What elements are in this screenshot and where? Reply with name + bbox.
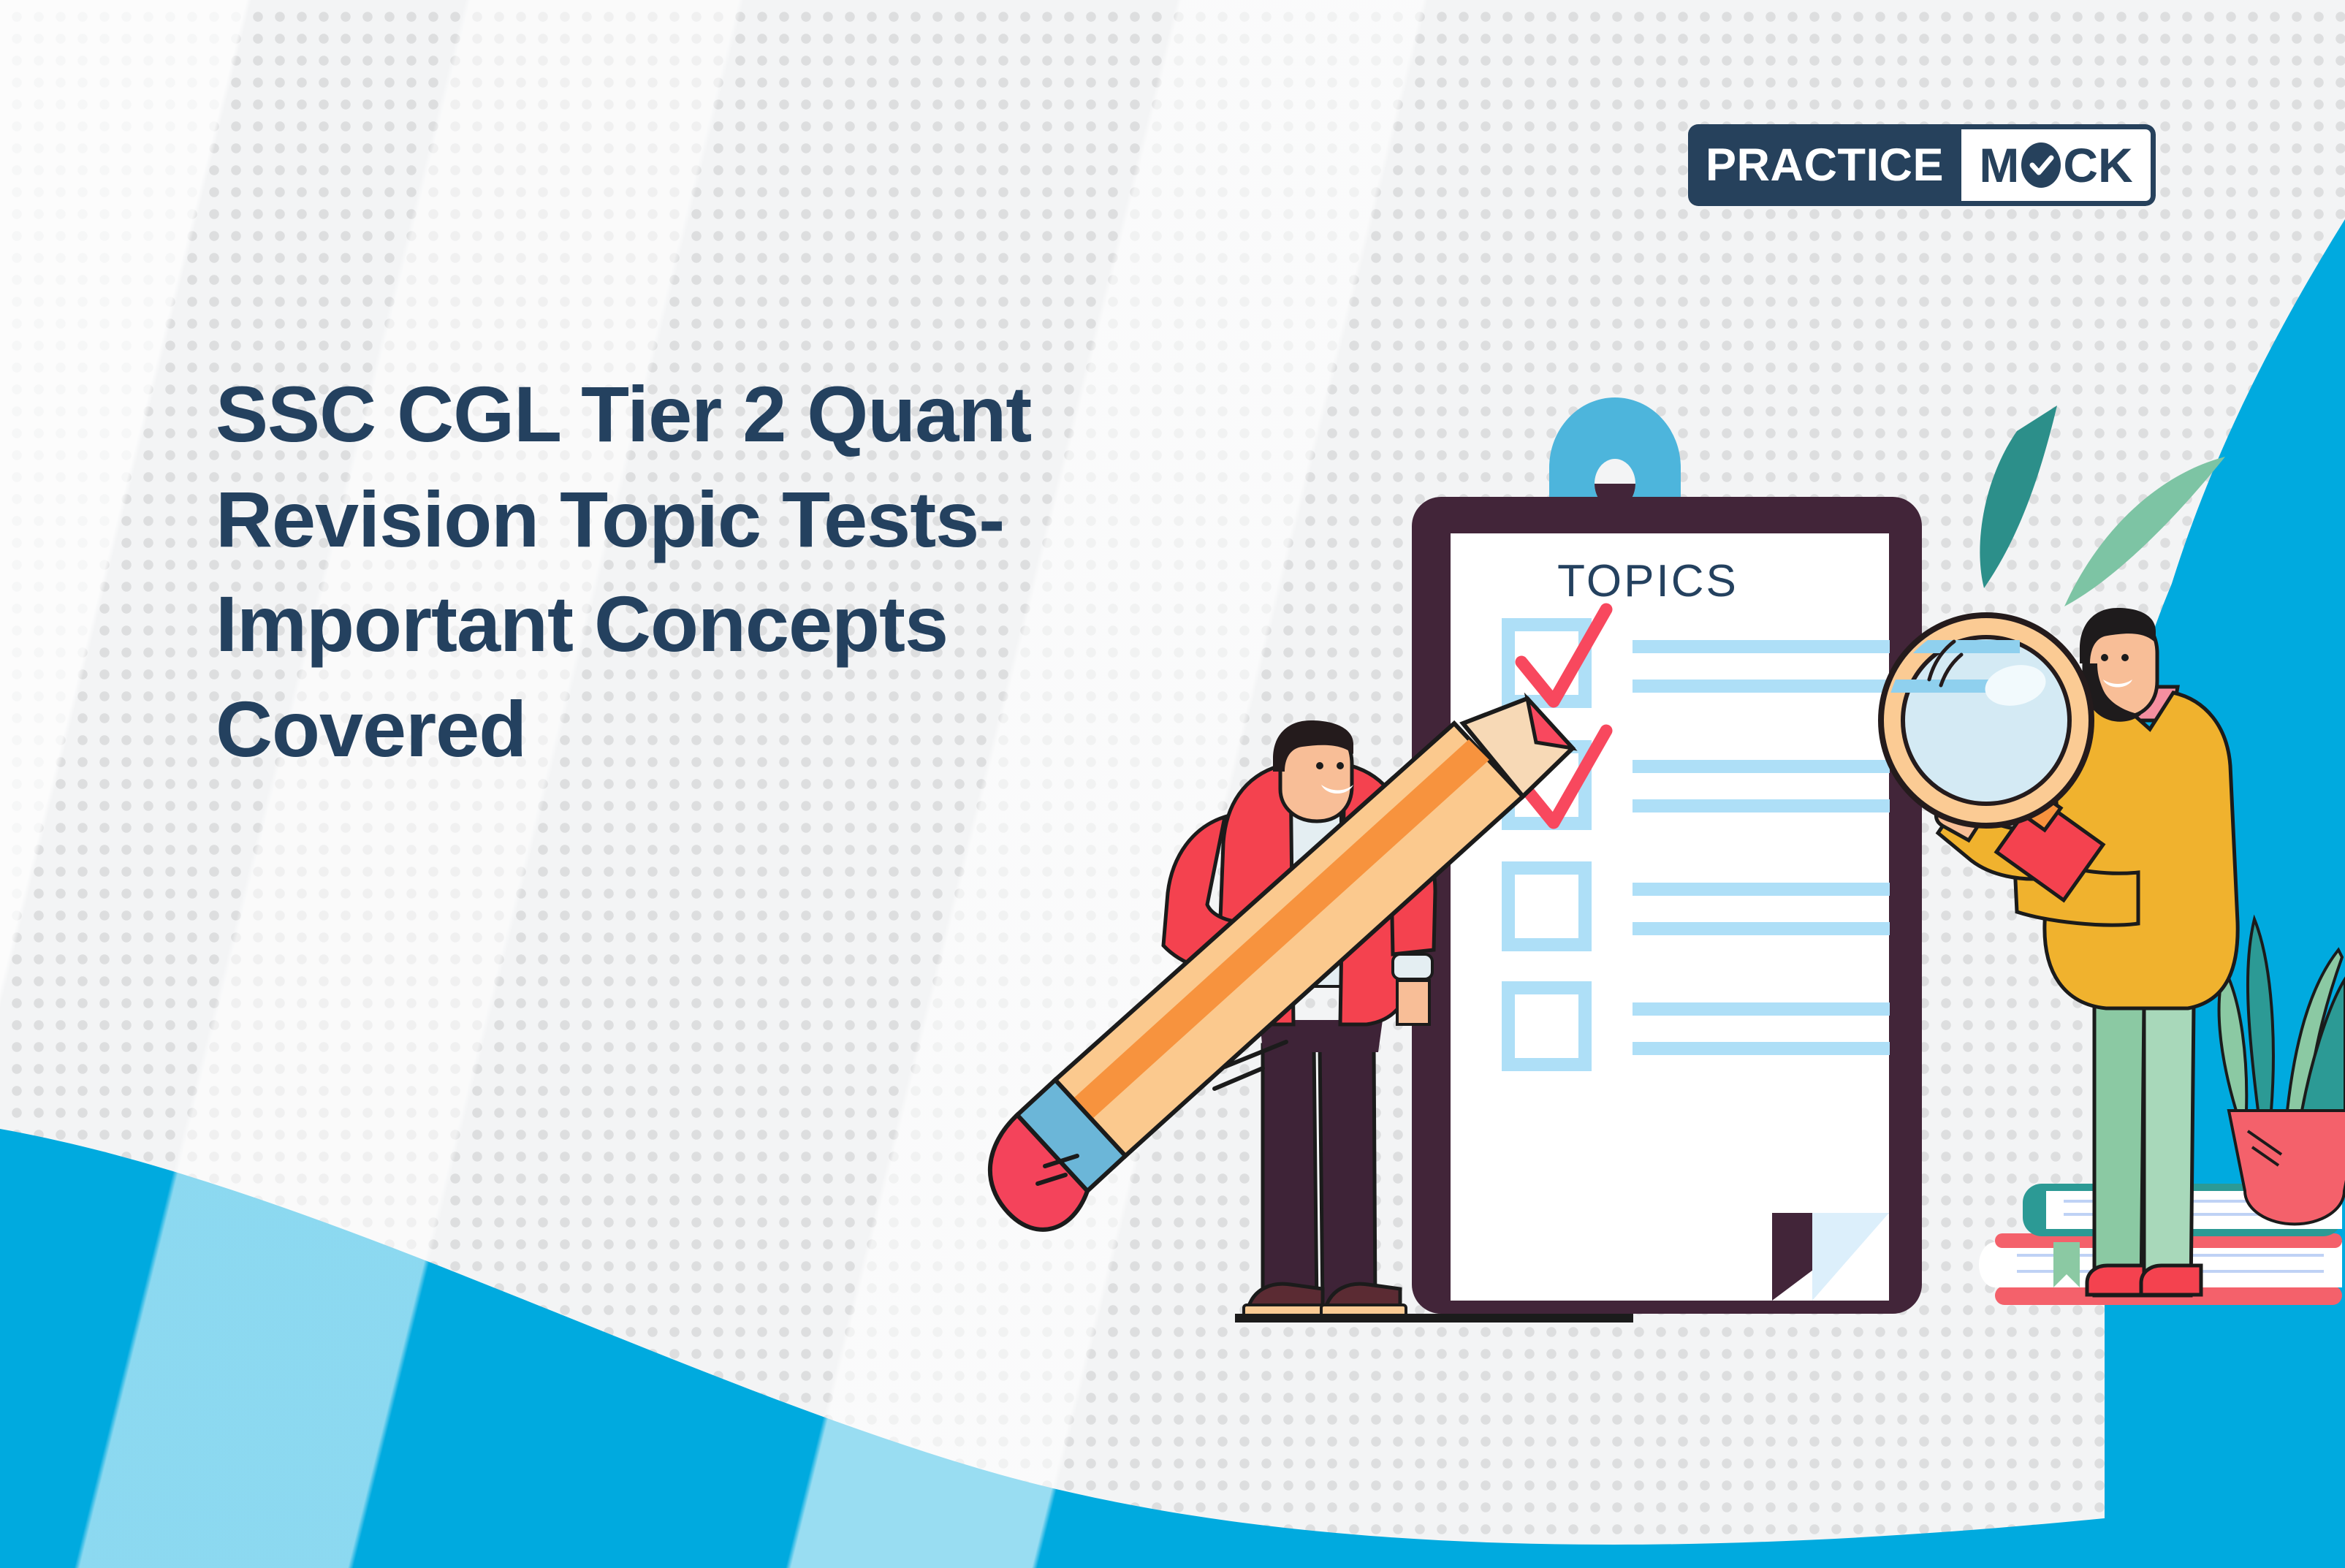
logo-letters-ck: CK [2063, 137, 2132, 193]
ground-line [1235, 1314, 1633, 1322]
logo-panel-mock: M CK [1961, 124, 2156, 206]
topics-heading: TOPICS [1557, 555, 1738, 607]
page-title-line-4: Covered [216, 677, 1356, 782]
potted-plant [2219, 919, 2345, 1224]
check-in-circle-icon [2021, 142, 2061, 188]
clipboard [1412, 397, 1922, 1314]
banner-root: TOPICS SSC CGL Tier 2 Quant Revision Top… [0, 0, 2345, 1568]
practicemock-logo[interactable]: PRACTICE M CK [1688, 124, 2156, 206]
illustration-svg [0, 0, 2345, 1568]
page-title-line-3: Important Concepts [216, 571, 1356, 677]
logo-letter-m: M [1979, 137, 2019, 193]
logo-word-practice: PRACTICE [1688, 124, 1961, 206]
illustration-stage: TOPICS [0, 0, 2345, 1568]
decorative-leaves [1980, 406, 2225, 606]
page-title-line-2: Revision Topic Tests- [216, 467, 1356, 572]
page-title: SSC CGL Tier 2 Quant Revision Topic Test… [216, 362, 1356, 782]
page-title-line-1: SSC CGL Tier 2 Quant [216, 362, 1356, 467]
logo-word-mock: M CK [1979, 137, 2132, 193]
